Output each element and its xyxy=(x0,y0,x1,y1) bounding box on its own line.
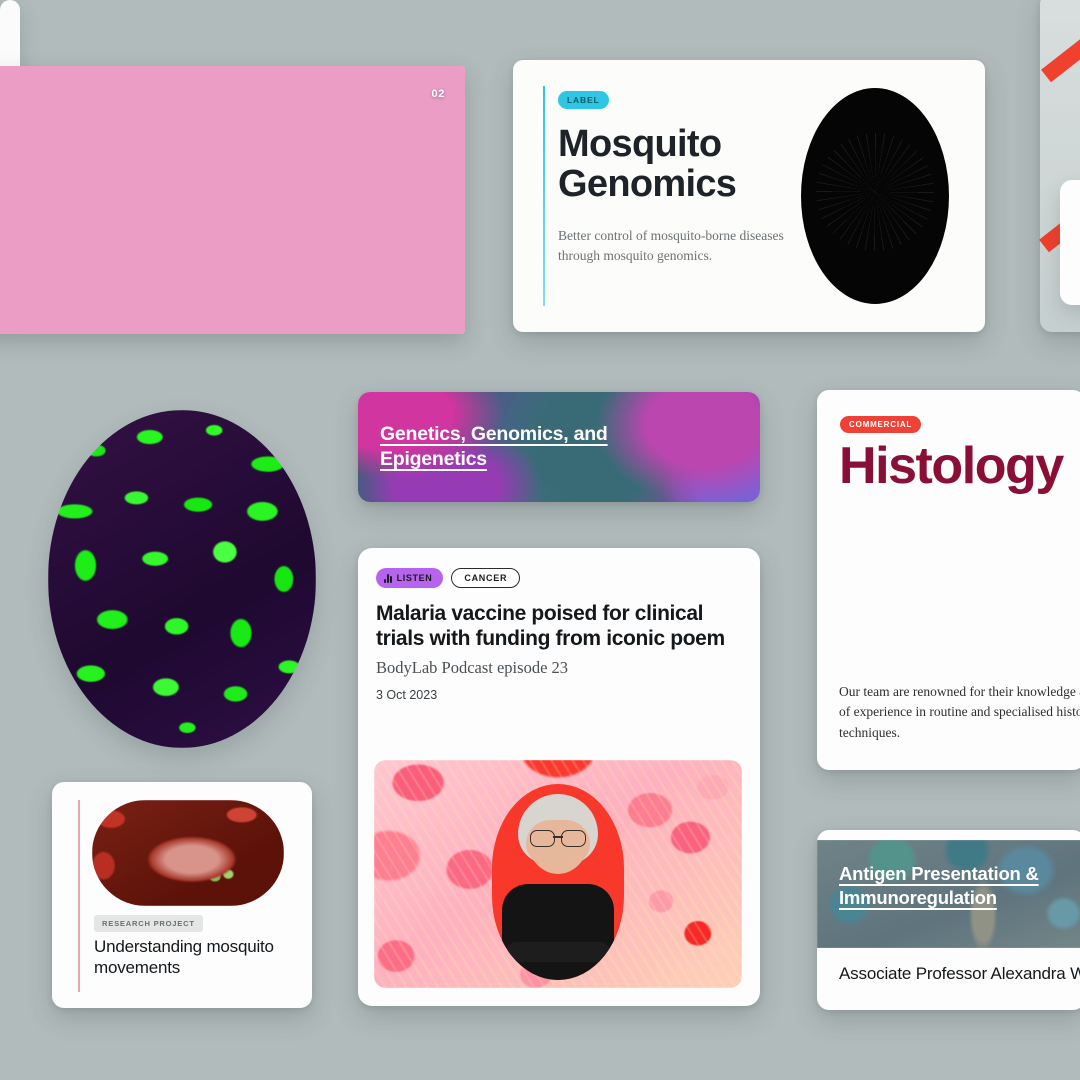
portrait-torso xyxy=(502,884,614,980)
genetics-banner-link[interactable]: Genetics, Genomics, and Epigenetics xyxy=(380,422,660,472)
pink-accent-bar xyxy=(78,800,80,992)
portrait-avatar xyxy=(492,784,624,980)
cyan-accent-bar xyxy=(543,86,545,306)
research-project-title: Understanding mosquito movements xyxy=(94,937,294,978)
podcast-badge-row: LISTEN CANCER xyxy=(376,568,520,588)
research-project-tag: RESEARCH PROJECT xyxy=(94,915,203,932)
mosquito-card-description: Better control of mosquito-borne disease… xyxy=(558,226,808,265)
mosquito-card-title: Mosquito Genomics xyxy=(558,125,808,204)
mosquito-genomics-card[interactable]: LABEL Mosquito Genomics Better control o… xyxy=(513,60,985,332)
research-project-card[interactable]: RESEARCH PROJECT Understanding mosquito … xyxy=(52,782,312,1008)
podcast-series: BodyLab Podcast episode 23 xyxy=(376,658,568,678)
audio-bars-icon xyxy=(384,574,392,583)
podcast-image xyxy=(374,760,742,988)
glasses-icon xyxy=(530,830,586,845)
fluorescent-cells-photo xyxy=(48,410,316,748)
clipped-card-right-small[interactable] xyxy=(1060,180,1080,305)
label-badge[interactable]: LABEL xyxy=(558,91,609,109)
listen-badge-label: LISTEN xyxy=(397,573,433,583)
red-blood-cell-photo xyxy=(92,800,284,906)
podcast-title: Malaria vaccine poised for clinical tria… xyxy=(376,602,744,652)
histology-title: Histology xyxy=(839,436,1063,496)
larva-photo xyxy=(801,88,949,304)
gallery-canvas: 02 LABEL Mosquito Genomics Better contro… xyxy=(0,0,1080,1080)
histology-body-text: Our team are renowned for their knowledg… xyxy=(839,682,1080,743)
mosquito-card-content: LABEL Mosquito Genomics Better control o… xyxy=(558,90,808,265)
fluorescence-oval-image[interactable] xyxy=(48,410,316,748)
slide-number: 02 xyxy=(431,88,445,100)
podcast-card[interactable]: LISTEN CANCER Malaria vaccine poised for… xyxy=(358,548,760,1006)
mosquito-larva-image xyxy=(801,88,949,304)
commercial-badge[interactable]: COMMERCIAL xyxy=(840,416,921,433)
research-project-image xyxy=(92,800,284,906)
portrait-hair xyxy=(518,794,598,864)
cancer-badge[interactable]: CANCER xyxy=(451,568,520,588)
histology-micrograph-image xyxy=(0,66,465,334)
listen-badge[interactable]: LISTEN xyxy=(376,568,443,588)
micrograph-tile[interactable]: 02 xyxy=(0,66,465,334)
antigen-title-link[interactable]: Antigen Presentation & Immunoregulation xyxy=(839,862,1080,909)
antigen-person-name: Associate Professor Alexandra W xyxy=(839,964,1080,984)
genetics-banner-card[interactable]: Genetics, Genomics, and Epigenetics xyxy=(358,392,760,502)
portrait-arms xyxy=(506,942,610,962)
antigen-card[interactable]: Antigen Presentation & Immunoregulation … xyxy=(817,830,1080,1010)
podcast-date: 3 Oct 2023 xyxy=(376,688,437,702)
histology-card[interactable]: COMMERCIAL Histology Our team are renown… xyxy=(817,390,1080,770)
